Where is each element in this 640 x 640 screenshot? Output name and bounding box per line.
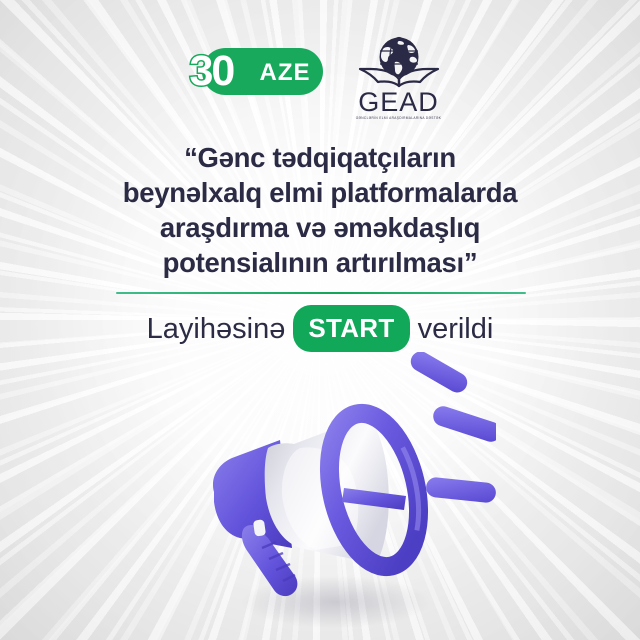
section-divider [116, 292, 526, 294]
aze-30-logo: 30 AZE [190, 48, 323, 95]
subline-prefix: Layihəsinə [147, 309, 294, 349]
headline-quote: “Gənc tədqiqatçıların beynəlxalq elmi pl… [0, 140, 640, 280]
headline-line-4: potensialının artırılması” [60, 245, 580, 280]
gead-globe-book-icon [353, 36, 445, 92]
headline-line-3: araşdırma və əməkdaşlıq [60, 210, 580, 245]
subline-row: Layihəsinə START verildi [0, 305, 640, 352]
aze-logo-label: AZE [260, 59, 311, 87]
megaphone-illustration [196, 352, 496, 640]
start-badge: START [293, 305, 409, 352]
gead-logo: GEAD GƏNCLƏRİN ELMİ ARAŞDIRMALARINA DƏST… [347, 36, 451, 120]
megaphone-shadow [241, 576, 431, 628]
logo-row: 30 AZE [0, 36, 640, 120]
megaphone-icon [196, 352, 496, 640]
sound-wave-1 [407, 352, 471, 396]
headline-line-2: beynəlxalq elmi platformalarda [60, 175, 580, 210]
sound-wave-2 [431, 404, 496, 445]
gead-wordmark: GEAD [358, 91, 439, 113]
gead-subtitle: GƏNCLƏRİN ELMİ ARAŞDIRMALARINA DƏSTƏK [356, 116, 442, 121]
aze-logo-number: 30 [190, 49, 234, 94]
headline-line-1: “Gənc tədqiqatçıların [60, 140, 580, 175]
poster-canvas: 30 AZE [0, 0, 640, 640]
subline-suffix: verildi [410, 309, 494, 349]
sound-wave-3 [425, 476, 496, 503]
